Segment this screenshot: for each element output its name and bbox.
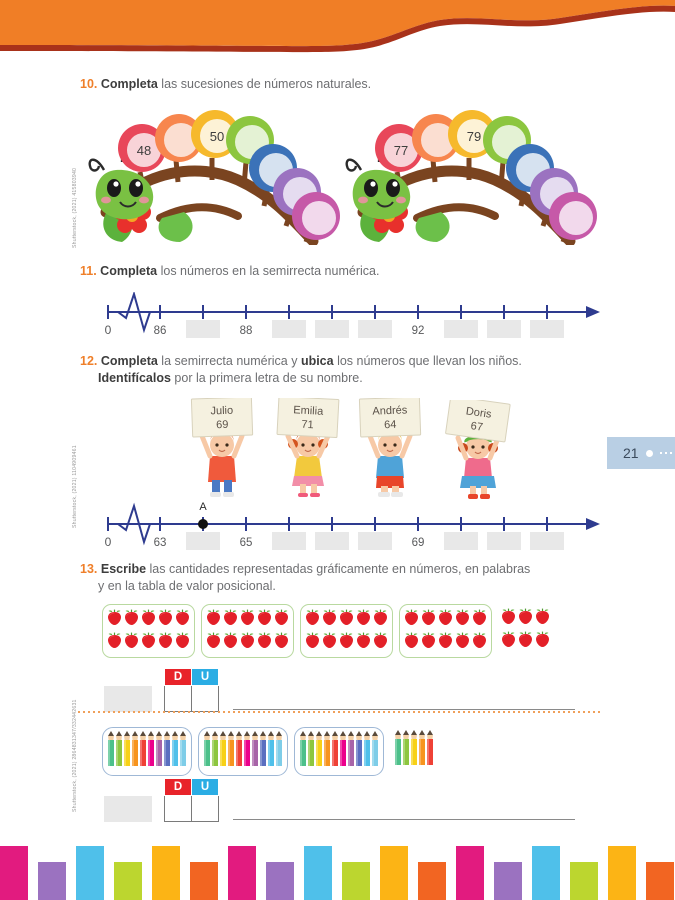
pencil-icon xyxy=(219,731,227,772)
strawberry-icon xyxy=(372,608,389,631)
footer-bar xyxy=(532,846,560,900)
strawberry-icon xyxy=(157,631,174,649)
strawberry-icon xyxy=(517,630,534,648)
footer-bar xyxy=(152,846,180,900)
pencil-icon xyxy=(371,731,379,772)
strawberry-icon xyxy=(106,608,123,626)
pencil-icon xyxy=(131,731,139,772)
page-number-badge: 21 xyxy=(607,437,675,469)
nl11-blank-5[interactable] xyxy=(358,320,392,338)
strawberry-icon xyxy=(304,608,321,626)
eye-left xyxy=(107,179,121,197)
pencil-icon xyxy=(131,731,139,767)
strawberry-icon xyxy=(420,608,437,631)
pencil-icon xyxy=(267,731,275,772)
words-answer-line-pencils[interactable] xyxy=(233,819,575,820)
strawberry-icon xyxy=(304,631,321,654)
strawberry-icon xyxy=(256,608,273,626)
exercise-10-bold: Completa xyxy=(101,77,158,91)
strawberry-icon xyxy=(420,631,437,649)
exercise-12-instruction: 12. Completa la semirrecta numérica y ub… xyxy=(80,353,610,387)
exercise-11-bold: Completa xyxy=(100,264,157,278)
nl11-blank-8[interactable] xyxy=(487,320,521,338)
pencil-icon xyxy=(259,731,267,772)
pencil-collection xyxy=(102,727,438,776)
pencil-icon xyxy=(251,731,259,772)
strawberry-icon xyxy=(239,631,256,649)
strawberry-icon xyxy=(403,631,420,654)
strawberry-icon xyxy=(106,631,123,654)
pencil-icon xyxy=(347,731,355,772)
pencil-icon xyxy=(315,731,323,772)
pencil-icon xyxy=(163,731,171,772)
stem-2 xyxy=(433,160,435,182)
strawberry-icon xyxy=(123,608,140,626)
pencil-icon xyxy=(115,731,123,772)
strawberry-icon xyxy=(174,608,191,626)
segment-1-value: 48 xyxy=(137,143,151,158)
strawberry-icon xyxy=(338,608,355,631)
marker-andres-dot xyxy=(198,519,208,529)
pencil-icon xyxy=(251,731,259,767)
exercise-11-number: 11. xyxy=(80,264,97,278)
axis-arrow xyxy=(586,306,600,318)
kid-body xyxy=(370,431,410,497)
strawberry-icon xyxy=(321,608,338,626)
pencil-icon xyxy=(123,731,131,767)
sign-andres-number: 64 xyxy=(384,419,397,431)
pencil-group-ten xyxy=(198,727,288,776)
strawberry-icon xyxy=(123,631,140,649)
strawberry-icon xyxy=(321,631,338,649)
strawberry-icon xyxy=(174,631,191,649)
nl11-label-0: 86 xyxy=(154,325,167,337)
strawberry-icon xyxy=(517,607,534,625)
sign-andres-name: Andrés xyxy=(372,404,408,417)
strawberry-icon xyxy=(403,608,420,631)
page-header-banner xyxy=(0,0,675,56)
pencil-icon xyxy=(299,731,307,767)
exercise-13: 13. Escribe las cantidades representadas… xyxy=(80,561,610,595)
exercise-12-line2: Identifícalos por la primera letra de su… xyxy=(80,370,610,387)
pencil-icon xyxy=(243,731,251,767)
kid-body xyxy=(458,433,498,499)
pencil-icon xyxy=(163,731,171,767)
exercise-12-line2-bold: Identifícalos xyxy=(98,371,171,385)
pencil-icon xyxy=(139,731,147,767)
pencil-icon xyxy=(331,731,339,767)
pencil-icon xyxy=(323,731,331,772)
stem-4 xyxy=(501,162,503,186)
strawberry-icon xyxy=(222,608,239,626)
strawberry-icon xyxy=(140,608,157,631)
pencil-icon xyxy=(394,730,402,766)
antenna-1 xyxy=(347,160,361,171)
sign-julio-name: Julio xyxy=(210,405,233,418)
strawberry-icon xyxy=(454,631,471,649)
pencil-icon xyxy=(363,731,371,772)
strawberry-icon xyxy=(355,608,372,631)
nl12-blank-5[interactable] xyxy=(358,532,392,550)
strawberry-icon xyxy=(123,608,140,631)
segment-3-value: 79 xyxy=(467,129,481,144)
cheek-right xyxy=(139,197,149,204)
strawberry-icon xyxy=(338,631,355,654)
header-tens: D xyxy=(165,779,192,796)
footer-bar xyxy=(342,862,370,900)
eye-right xyxy=(386,179,400,197)
footer-bar xyxy=(494,862,522,900)
strawberry-icon xyxy=(338,631,355,649)
strawberry-icon xyxy=(273,631,290,654)
pencil-icon xyxy=(171,731,179,772)
segment-3-value: 50 xyxy=(210,129,224,144)
footer-bar xyxy=(38,862,66,900)
place-value-row-strawberries[interactable]: D U xyxy=(104,668,575,712)
credit-kids: Shutterstock, (2021) 1104909461 xyxy=(72,445,78,528)
footer-bar xyxy=(608,846,636,900)
sign-julio-number: 69 xyxy=(216,419,229,431)
footer-bar xyxy=(304,846,332,900)
pencil-icon xyxy=(418,730,426,766)
marker-andres-letter: A xyxy=(199,501,207,513)
strawberry-icon xyxy=(140,631,157,654)
nl11-blank-9[interactable] xyxy=(530,320,564,338)
pencil-icon xyxy=(227,731,235,767)
pencil-icon xyxy=(331,731,339,772)
strawberry-collection xyxy=(102,604,553,658)
credit-caterpillar: Shutterstock, (2021) 415803940 xyxy=(72,168,78,248)
pencil-icon xyxy=(219,731,227,767)
strawberry-icon xyxy=(174,608,191,631)
nl11-blank-7[interactable] xyxy=(444,320,478,338)
exercise-12: 12. Completa la semirrecta numérica y ub… xyxy=(80,353,610,387)
footer-bar xyxy=(456,846,484,900)
exercise-13-number: 13. xyxy=(80,562,97,576)
number-answer-box-strawberries[interactable] xyxy=(104,686,152,712)
pencil-icon xyxy=(267,731,275,767)
pencil-icon xyxy=(235,731,243,772)
strawberry-icon xyxy=(123,631,140,654)
number-answer-box-pencils[interactable] xyxy=(104,796,152,822)
pencil-icon xyxy=(371,731,379,767)
pencil-icon xyxy=(123,731,131,772)
strawberry-icon xyxy=(500,607,517,630)
strawberry-icon xyxy=(140,608,157,626)
exercise-12-bold2: ubica xyxy=(301,354,334,368)
stem-4 xyxy=(244,162,246,186)
nl11-label-2: 88 xyxy=(240,325,253,337)
segment-7 xyxy=(549,192,597,240)
strawberry-icon xyxy=(437,631,454,649)
strawberry-icon xyxy=(437,608,454,631)
sign-doris: Doris 67 xyxy=(446,400,511,442)
exercise-10-number: 10. xyxy=(80,77,97,91)
pencil-icon xyxy=(347,731,355,767)
pencil-icon xyxy=(243,731,251,772)
pencil-icon xyxy=(339,731,347,772)
nl11-label-6: 92 xyxy=(412,325,425,337)
pencil-icon xyxy=(211,731,219,772)
strawberry-icon xyxy=(454,608,471,631)
strawberry-icon xyxy=(420,608,437,626)
strawberry-icon xyxy=(500,607,517,625)
nl12-blank-3[interactable] xyxy=(272,532,306,550)
cell-tens[interactable] xyxy=(165,686,192,712)
strawberry-icon xyxy=(273,631,290,649)
pencil-icon xyxy=(227,731,235,772)
nl12-blank-4[interactable] xyxy=(315,532,349,550)
strawberry-icon xyxy=(157,631,174,654)
numberline-12[interactable]: 0 A 63 65 69 xyxy=(100,492,605,552)
strawberry-icon xyxy=(321,608,338,631)
strawberry-icon xyxy=(239,631,256,654)
pencil-icon xyxy=(394,730,402,771)
footer-bar xyxy=(418,862,446,900)
strawberry-icon xyxy=(534,607,551,625)
pencil-icon xyxy=(426,730,434,766)
axis-arrow xyxy=(586,518,600,530)
strawberry-icon xyxy=(140,631,157,649)
pencil-icon xyxy=(171,731,179,767)
caterpillar-right: 77 79 xyxy=(345,100,600,250)
header-tens: D xyxy=(165,669,192,686)
badge-dot xyxy=(646,450,653,457)
pencil-icon xyxy=(155,731,163,767)
badge-dashes xyxy=(660,452,675,454)
numberline-11-zero: 0 xyxy=(105,323,112,337)
pencil-icon xyxy=(107,731,115,772)
strawberry-icon xyxy=(454,608,471,626)
strawberry-icon xyxy=(205,631,222,649)
pencil-icon xyxy=(339,731,347,767)
page-footer-bar xyxy=(0,838,675,900)
cell-units[interactable] xyxy=(192,686,219,712)
words-answer-line-strawberries[interactable] xyxy=(233,709,575,710)
header-units: U xyxy=(192,669,219,686)
strawberry-icon xyxy=(420,631,437,654)
strawberry-icon xyxy=(534,630,551,653)
pencil-icon xyxy=(275,731,283,772)
exercise-11-instruction: 11. Completa los números en la semirrect… xyxy=(80,263,600,280)
exercise-13-rest: las cantidades representadas gráficament… xyxy=(146,562,530,576)
strawberry-icon xyxy=(372,631,389,649)
pencil-icon xyxy=(203,731,211,767)
marker-andres: A xyxy=(198,501,208,529)
pencil-icon xyxy=(363,731,371,767)
kid-body xyxy=(288,431,328,497)
stem-2 xyxy=(176,160,178,182)
strawberry-group-ten xyxy=(102,604,195,658)
strawberry-icon xyxy=(239,608,256,631)
segment-7 xyxy=(292,192,340,240)
footer-bar xyxy=(76,846,104,900)
strawberry-icon xyxy=(205,631,222,654)
strawberry-icon xyxy=(157,608,174,631)
kid-doris: Doris 67 xyxy=(440,400,516,505)
pencil-group-ten xyxy=(102,727,192,776)
pencil-icon xyxy=(155,731,163,772)
strawberry-icon xyxy=(321,631,338,654)
strawberry-icon xyxy=(534,607,551,630)
header-units: U xyxy=(192,779,219,796)
cheek-right xyxy=(396,197,406,204)
exercise-13-bold: Escribe xyxy=(101,562,146,576)
eye-left xyxy=(364,179,378,197)
exercise-10: 10. Completa las sucesiones de números n… xyxy=(80,76,600,93)
strawberry-icon xyxy=(338,608,355,626)
pencil-icon xyxy=(259,731,267,767)
page-number: 21 xyxy=(623,445,639,461)
strawberry-icon xyxy=(534,630,551,648)
strawberry-icon xyxy=(205,608,222,626)
exercise-12-bold: Completa xyxy=(101,354,158,368)
nl12-blank-7[interactable] xyxy=(444,532,478,550)
place-value-table-pencils: D U xyxy=(164,778,219,822)
strawberry-icon xyxy=(239,608,256,626)
strawberry-group-ten xyxy=(300,604,393,658)
exercise-11: 11. Completa los números en la semirrect… xyxy=(80,263,600,280)
sign-andres: Andrés 64 xyxy=(359,398,420,437)
strawberry-icon xyxy=(403,608,420,626)
strawberry-icon xyxy=(355,631,372,654)
nl11-blank-3[interactable] xyxy=(272,320,306,338)
strawberry-icon xyxy=(157,608,174,626)
strawberry-icon xyxy=(500,630,517,653)
eye-right xyxy=(129,179,143,197)
strawberry-icon xyxy=(106,608,123,631)
footer-bar xyxy=(646,862,674,900)
footer-bar xyxy=(114,862,142,900)
pencil-icon xyxy=(147,731,155,767)
strawberry-icon xyxy=(222,631,239,654)
footer-bar xyxy=(190,862,218,900)
sign-doris-number: 67 xyxy=(470,420,484,434)
strawberry-icon xyxy=(174,631,191,654)
segment-1-value: 77 xyxy=(394,143,408,158)
pencil-loose-group xyxy=(390,727,438,774)
sign-julio: Julio 69 xyxy=(191,398,252,437)
pencil-icon xyxy=(410,730,418,766)
strawberry-icon xyxy=(372,631,389,654)
nl12-blank-1[interactable] xyxy=(186,532,220,550)
strawberry-icon xyxy=(437,608,454,626)
exercise-12-number: 12. xyxy=(80,354,97,368)
section-divider xyxy=(78,711,600,713)
kid-emilia: Emilia 71 xyxy=(272,398,344,503)
pencil-icon xyxy=(147,731,155,772)
pencil-icon xyxy=(203,731,211,772)
strawberry-icon xyxy=(517,630,534,653)
pencil-icon xyxy=(323,731,331,767)
header-orange-band xyxy=(0,0,675,46)
kid-julio: Julio 69 xyxy=(186,398,258,503)
footer-bar xyxy=(570,862,598,900)
strawberry-icon xyxy=(471,608,488,631)
strawberry-icon xyxy=(454,631,471,654)
pencil-icon xyxy=(307,731,315,772)
sign-emilia: Emilia 71 xyxy=(277,398,339,438)
sign-emilia-number: 71 xyxy=(301,419,314,432)
pencil-icon xyxy=(179,731,187,772)
nl12-label-2: 65 xyxy=(240,537,253,549)
sign-emilia-name: Emilia xyxy=(293,404,324,418)
cell-tens[interactable] xyxy=(165,796,192,822)
strawberry-icon xyxy=(256,631,273,649)
nl12-blank-9[interactable] xyxy=(530,532,564,550)
exercise-12-line2-rest: por la primera letra de su nombre. xyxy=(171,371,363,385)
pencil-icon xyxy=(410,730,418,771)
pencil-icon xyxy=(211,731,219,767)
strawberry-icon xyxy=(437,631,454,654)
strawberry-icon xyxy=(355,631,372,649)
pencil-icon xyxy=(315,731,323,767)
caterpillar-left: 48 50 xyxy=(88,100,343,250)
footer-bar xyxy=(0,846,28,900)
strawberry-icon xyxy=(222,608,239,631)
exercise-10-rest: las sucesiones de números naturales. xyxy=(158,77,371,91)
nl12-label-6: 69 xyxy=(412,537,425,549)
pencil-group-ten xyxy=(294,727,384,776)
strawberry-icon xyxy=(355,608,372,626)
strawberry-icon xyxy=(517,607,534,630)
pencil-icon xyxy=(307,731,315,767)
kid-body xyxy=(202,432,242,497)
cheek-left xyxy=(358,197,368,204)
antenna-1 xyxy=(90,160,104,171)
strawberry-icon xyxy=(403,631,420,649)
strawberry-icon xyxy=(256,608,273,631)
footer-bar xyxy=(266,862,294,900)
strawberry-icon xyxy=(256,631,273,654)
numberline-11[interactable]: 0 86 88 92 xyxy=(100,292,605,340)
strawberry-icon xyxy=(372,608,389,626)
strawberry-icon xyxy=(205,608,222,631)
nl12-blank-8[interactable] xyxy=(487,532,521,550)
pencil-icon xyxy=(355,731,363,772)
strawberry-icon xyxy=(273,608,290,631)
strawberry-icon xyxy=(273,608,290,626)
strawberry-group-ten xyxy=(399,604,492,658)
nl11-blank-1[interactable] xyxy=(186,320,220,338)
nl11-blank-4[interactable] xyxy=(315,320,349,338)
pencil-icon xyxy=(139,731,147,772)
pencil-icon xyxy=(275,731,283,767)
footer-bar xyxy=(228,846,256,900)
exercise-10-instruction: 10. Completa las sucesiones de números n… xyxy=(80,76,600,93)
pencil-icon xyxy=(355,731,363,767)
pencil-icon xyxy=(418,730,426,771)
cell-units[interactable] xyxy=(192,796,219,822)
exercise-12-rest2: los números que llevan los niños. xyxy=(334,354,522,368)
pencil-icon xyxy=(426,730,434,771)
place-value-row-pencils[interactable]: D U xyxy=(104,778,575,822)
credit-objects: Shutterstock, (2021) 2864831347/33244263… xyxy=(72,699,78,812)
strawberry-icon xyxy=(500,630,517,648)
numberline-12-zero: 0 xyxy=(105,535,112,549)
pencil-icon xyxy=(402,730,410,771)
strawberry-icon xyxy=(106,631,123,649)
exercise-13-line2: y en la tabla de valor posicional. xyxy=(80,578,610,595)
pencil-icon xyxy=(107,731,115,767)
place-value-table-strawberries: D U xyxy=(164,668,219,712)
strawberry-icon xyxy=(304,631,321,649)
strawberry-icon xyxy=(471,631,488,649)
strawberry-icon xyxy=(304,608,321,631)
pencil-icon xyxy=(115,731,123,767)
cheek-left xyxy=(101,197,111,204)
pencil-icon xyxy=(402,730,410,766)
